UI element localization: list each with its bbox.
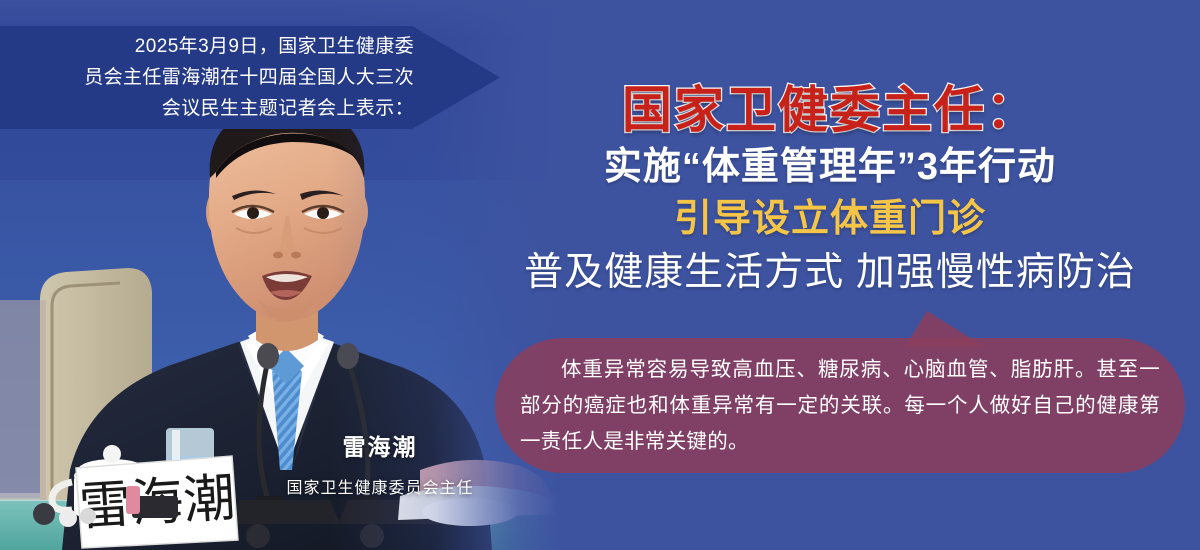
speaker-caption: 雷海潮 国家卫生健康委员会主任 — [250, 428, 510, 498]
intro-banner-text: 2025年3月9日，国家卫生健康委 员会主任雷海潮在十四届全国人大三次 会议民生… — [0, 26, 430, 129]
intro-banner-line-3: 会议民生主题记者会上表示： — [0, 93, 414, 124]
headline-line-3: 引导设立体重门诊 — [460, 194, 1200, 244]
poster-root: 雷海潮 2025年3月9日，国家卫生健康委 员会主任雷海潮在十四届全国人大三次 … — [0, 0, 1200, 550]
quote-text: 体重异常容易导致高血压、糖尿病、心脑血管、脂肪肝。甚至一部分的癌症也和体重异常有… — [520, 352, 1160, 464]
intro-banner-line-1: 2025年3月9日，国家卫生健康委 — [0, 31, 414, 62]
headline-line-4: 普及健康生活方式 加强慢性病防治 — [460, 248, 1200, 298]
intro-banner-line-2: 员会主任雷海潮在十四届全国人大三次 — [0, 62, 414, 93]
speaker-name: 雷海潮 — [250, 428, 510, 462]
headline-line-1: 国家卫健委主任： — [460, 82, 1200, 138]
headline-line-2: 实施“体重管理年”3年行动 — [460, 142, 1200, 192]
speaker-title: 国家卫生健康委员会主任 — [250, 474, 510, 498]
headline-block: 国家卫健委主任： 实施“体重管理年”3年行动 引导设立体重门诊 普及健康生活方式… — [460, 82, 1200, 298]
